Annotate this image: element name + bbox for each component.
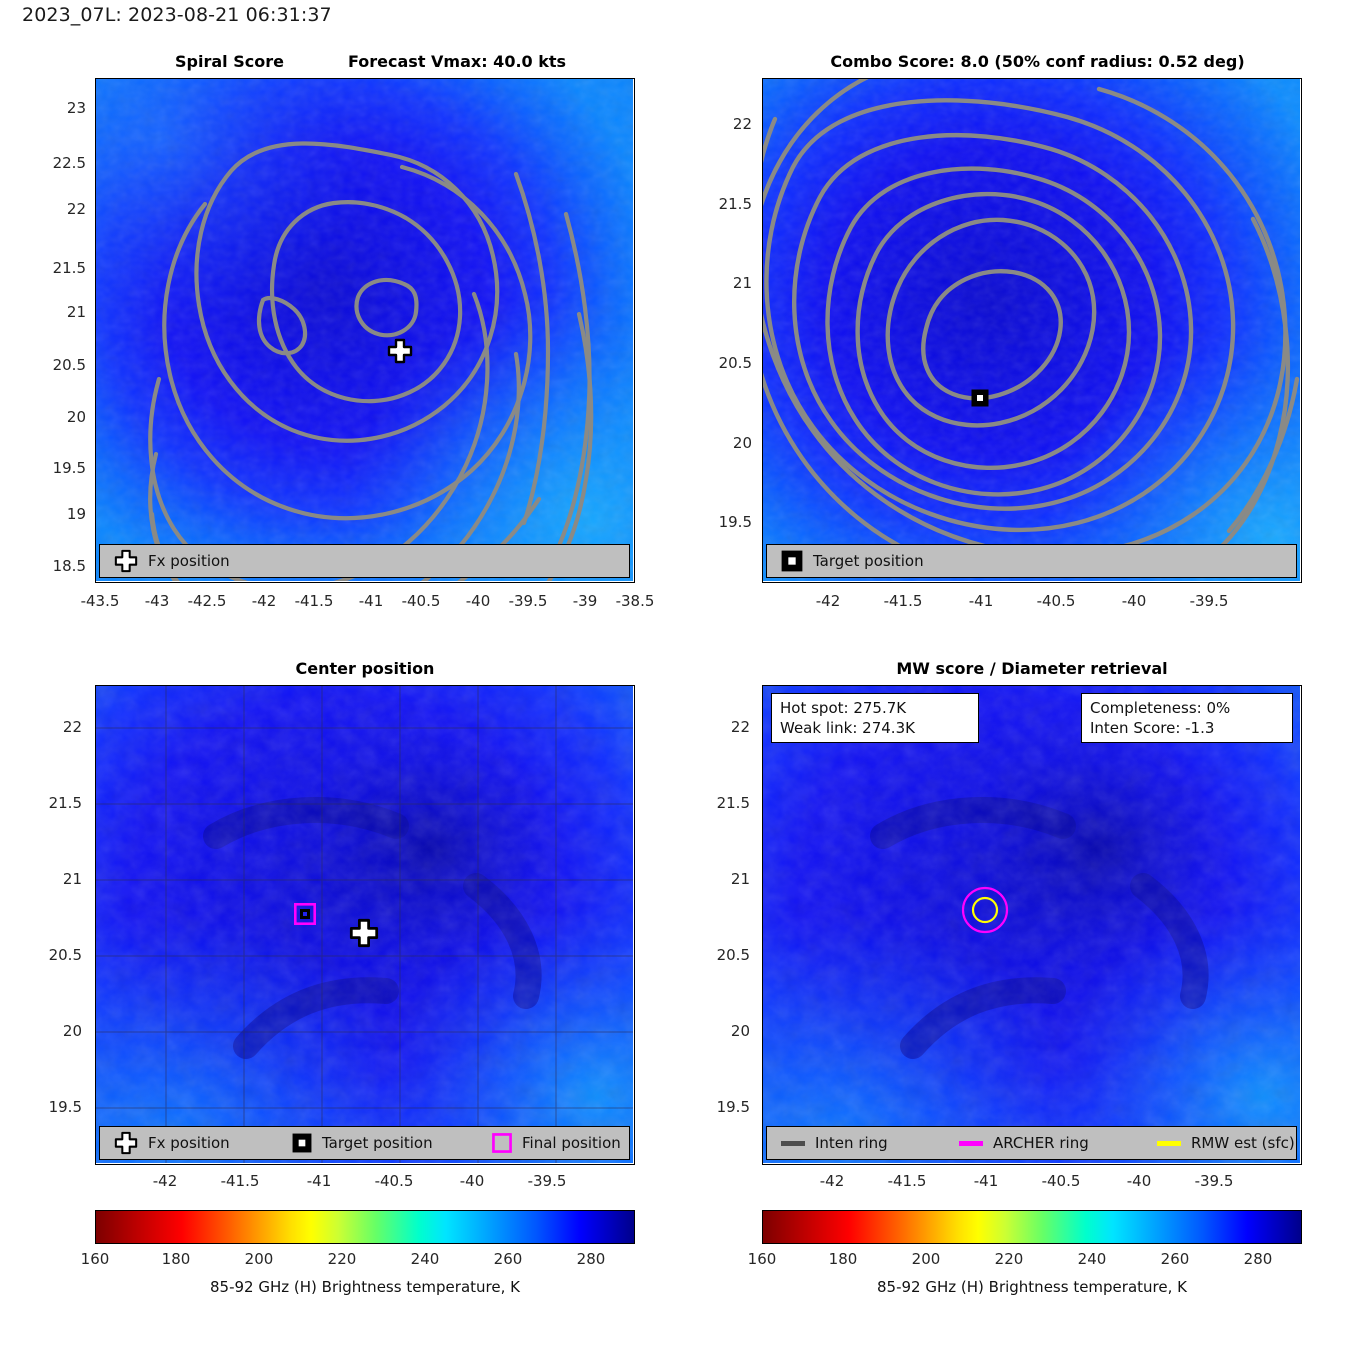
hot-spot-value: Hot spot: 275.7K xyxy=(780,698,970,718)
inten-score-value: Inten Score: -1.3 xyxy=(1090,718,1284,738)
fx-position-marker xyxy=(387,338,413,364)
legend-label-archer-ring: ARCHER ring xyxy=(993,1134,1089,1152)
legend-label-fx-position: Fx position xyxy=(148,1134,230,1152)
legend-label-rmw-est: RMW est (sfc) xyxy=(1191,1134,1295,1152)
legend-item-fx-position: Fx position xyxy=(114,1131,292,1155)
legend-label-inten-ring: Inten ring xyxy=(815,1134,888,1152)
final-square-icon xyxy=(492,1133,512,1153)
center-legend: Fx position Target position Final positi… xyxy=(99,1126,630,1160)
legend-item-target-position: Target position xyxy=(781,550,924,572)
colorbar-left-caption: 85-92 GHz (H) Brightness temperature, K xyxy=(95,1278,635,1296)
final-position-marker xyxy=(294,903,316,925)
target-position-marker xyxy=(971,389,989,407)
center-position-title: Center position xyxy=(95,659,635,678)
target-square-icon xyxy=(292,1133,312,1153)
mw-score-title: MW score / Diameter retrieval xyxy=(762,659,1302,678)
spiral-legend: Fx position xyxy=(99,544,630,578)
colorbar-right xyxy=(762,1210,1302,1244)
hotspot-info-box: Hot spot: 275.7K Weak link: 274.3K xyxy=(771,693,979,743)
rmw-ring-line-icon xyxy=(1157,1141,1181,1146)
weak-link-value: Weak link: 274.3K xyxy=(780,718,970,738)
colorbar-right-caption: 85-92 GHz (H) Brightness temperature, K xyxy=(762,1278,1302,1296)
legend-item-final-position: Final position xyxy=(492,1133,621,1153)
legend-item-inten-ring: Inten ring xyxy=(781,1134,959,1152)
archer-ring-line-icon xyxy=(959,1141,983,1146)
legend-item-rmw-est: RMW est (sfc) xyxy=(1157,1134,1295,1152)
diameter-rings xyxy=(959,884,1011,936)
completeness-info-box: Completeness: 0% Inten Score: -1.3 xyxy=(1081,693,1293,743)
fx-cross-icon xyxy=(114,549,138,573)
spiral-score-plot[interactable]: Fx position xyxy=(95,78,635,583)
fx-cross-icon xyxy=(114,1131,138,1155)
completeness-value: Completeness: 0% xyxy=(1090,698,1284,718)
inten-ring-line-icon xyxy=(781,1141,805,1146)
target-square-icon xyxy=(781,550,803,572)
mw-legend: Inten ring ARCHER ring RMW est (sfc) xyxy=(766,1126,1297,1160)
legend-item-target-position: Target position xyxy=(292,1133,492,1153)
rmw-ring xyxy=(973,898,997,922)
legend-label-fx-position: Fx position xyxy=(148,552,230,570)
legend-item-fx-position: Fx position xyxy=(114,549,230,573)
colorbar-left xyxy=(95,1210,635,1244)
fx-position-marker xyxy=(349,918,379,948)
mw-score-plot[interactable]: Hot spot: 275.7K Weak link: 274.3K Compl… xyxy=(762,685,1302,1165)
combo-score-plot[interactable]: Target position xyxy=(762,78,1302,583)
combo-score-title: Combo Score: 8.0 (50% conf radius: 0.52 … xyxy=(765,52,1310,71)
mw-score-field xyxy=(763,686,1300,1163)
combo-score-field xyxy=(763,79,1300,581)
legend-label-target-position: Target position xyxy=(322,1134,433,1152)
page-title: 2023_07L: 2023-08-21 06:31:37 xyxy=(22,4,332,26)
spiral-score-title: Spiral Score xyxy=(175,52,284,71)
center-position-plot[interactable]: Fx position Target position Final positi… xyxy=(95,685,635,1165)
legend-label-final-position: Final position xyxy=(522,1134,621,1152)
legend-item-archer-ring: ARCHER ring xyxy=(959,1134,1157,1152)
combo-legend: Target position xyxy=(766,544,1297,578)
spiral-score-field xyxy=(96,79,633,581)
archer-ring xyxy=(963,888,1007,932)
legend-label-target-position: Target position xyxy=(813,552,924,570)
forecast-vmax-label: Forecast Vmax: 40.0 kts xyxy=(348,52,566,71)
